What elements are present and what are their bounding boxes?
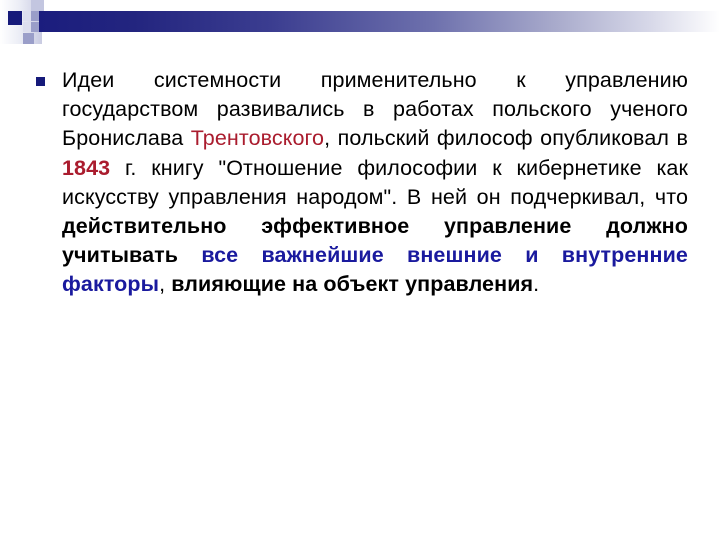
slide-header-decoration — [0, 0, 720, 52]
run-text-book-title: г. книгу "Отношение философии к кибернет… — [62, 156, 688, 209]
header-square-pale-b — [23, 22, 31, 32]
body-paragraph: Идеи системности применительно к управле… — [62, 66, 688, 300]
header-gradient-bar — [39, 11, 720, 32]
run-text-comma: , — [159, 272, 171, 296]
bullet-marker-icon — [36, 77, 45, 86]
slide-content-block: Идеи системности применительно к управле… — [36, 66, 688, 300]
run-text-period: . — [533, 272, 539, 296]
header-square-pale-a — [23, 11, 31, 21]
run-text-influencing: влияющие на объект управления — [171, 272, 533, 296]
header-square-mid-c — [23, 33, 34, 44]
run-text-philosopher: , польский философ опубликовал в — [324, 126, 688, 150]
run-text-year-1843: 1843 — [62, 156, 110, 180]
bullet-list-item: Идеи системности применительно к управле… — [36, 66, 688, 300]
header-square-navy — [8, 11, 22, 25]
header-square-light-topb — [31, 0, 44, 11]
run-text-trentovsky: Трентовского — [191, 126, 324, 150]
